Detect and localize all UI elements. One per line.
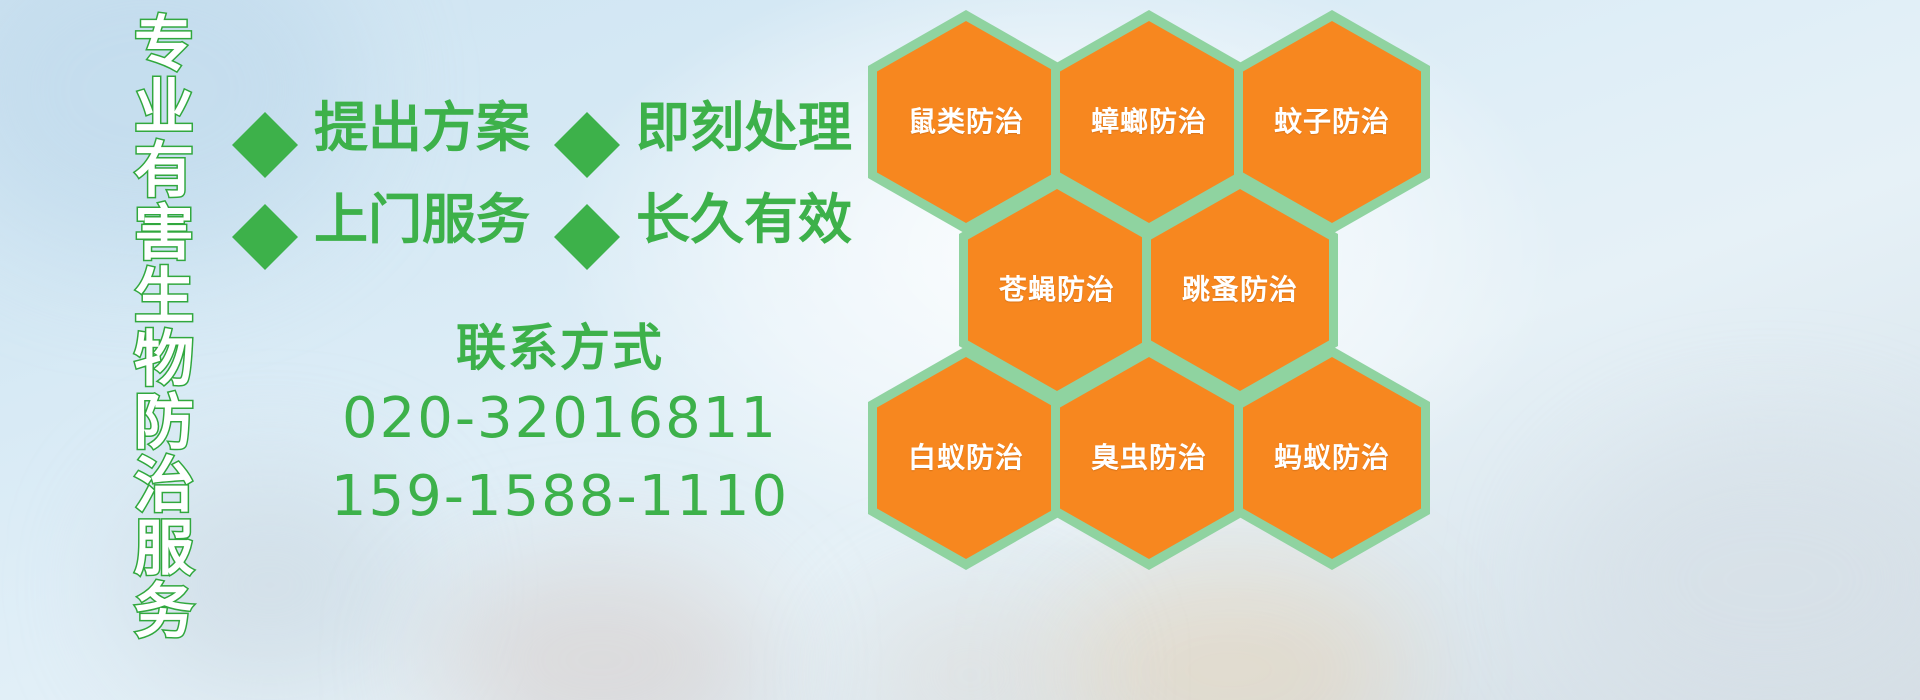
diamond-icon [554,171,620,237]
feature-item: 提出方案 [232,95,530,161]
vertical-headline-char: 有 [134,140,194,203]
diamond-icon [232,79,298,145]
feature-label: 上门服务 [314,191,530,249]
feature-item: 即刻处理 [554,95,852,161]
pest-control-banner: 专 业 有 害 生 物 防 治 服 务 提出方案 即刻处理 上门服务 [0,0,1920,700]
vertical-headline-char: 害 [134,203,194,266]
vertical-headline-char: 专 [134,14,194,77]
diamond-icon [232,171,298,237]
vertical-headline-char: 治 [134,455,194,518]
feature-item: 上门服务 [232,187,530,253]
feature-label: 提出方案 [314,99,530,157]
hex-label: 蚊子防治 [1274,107,1390,137]
feature-label: 长久有效 [636,191,852,249]
background-blob [860,600,1080,700]
feature-row: 提出方案 即刻处理 [232,82,872,174]
hex-label: 蟑螂防治 [1091,107,1207,137]
hex-label: 苍蝇防治 [999,275,1115,305]
vertical-headline-char: 服 [134,518,194,581]
feature-list: 提出方案 即刻处理 上门服务 长久有效 [232,82,872,266]
service-hex-grid: 鼠类防治 蟑螂防治 蚊子防治 苍蝇防治 跳蚤防治 白蚁防治 臭虫防治 [862,0,1482,600]
diamond-icon [554,79,620,145]
feature-row: 上门服务 长久有效 [232,174,872,266]
hex-label: 跳蚤防治 [1182,275,1298,305]
vertical-headline-char: 防 [134,392,194,455]
vertical-headline-char: 务 [134,581,194,644]
contact-heading: 联系方式 [310,316,810,380]
vertical-headline-char: 生 [134,266,194,329]
hex-label: 鼠类防治 [908,107,1024,137]
background-blob [1560,430,1920,700]
vertical-headline: 专 业 有 害 生 物 防 治 服 务 [112,14,216,574]
vertical-headline-char: 业 [134,77,194,140]
feature-item: 长久有效 [554,187,852,253]
vertical-headline-char: 物 [134,329,194,392]
hex-label: 蚂蚁防治 [1274,443,1390,473]
background-blob [430,560,770,700]
hex-label: 臭虫防治 [1091,443,1207,473]
hex-label: 白蚁防治 [908,443,1024,473]
contact-phone-mobile[interactable]: 159-1588-1110 [310,458,810,536]
feature-label: 即刻处理 [636,99,852,157]
contact-phone-landline[interactable]: 020-32016811 [310,380,810,458]
contact-block: 联系方式 020-32016811 159-1588-1110 [310,316,810,536]
